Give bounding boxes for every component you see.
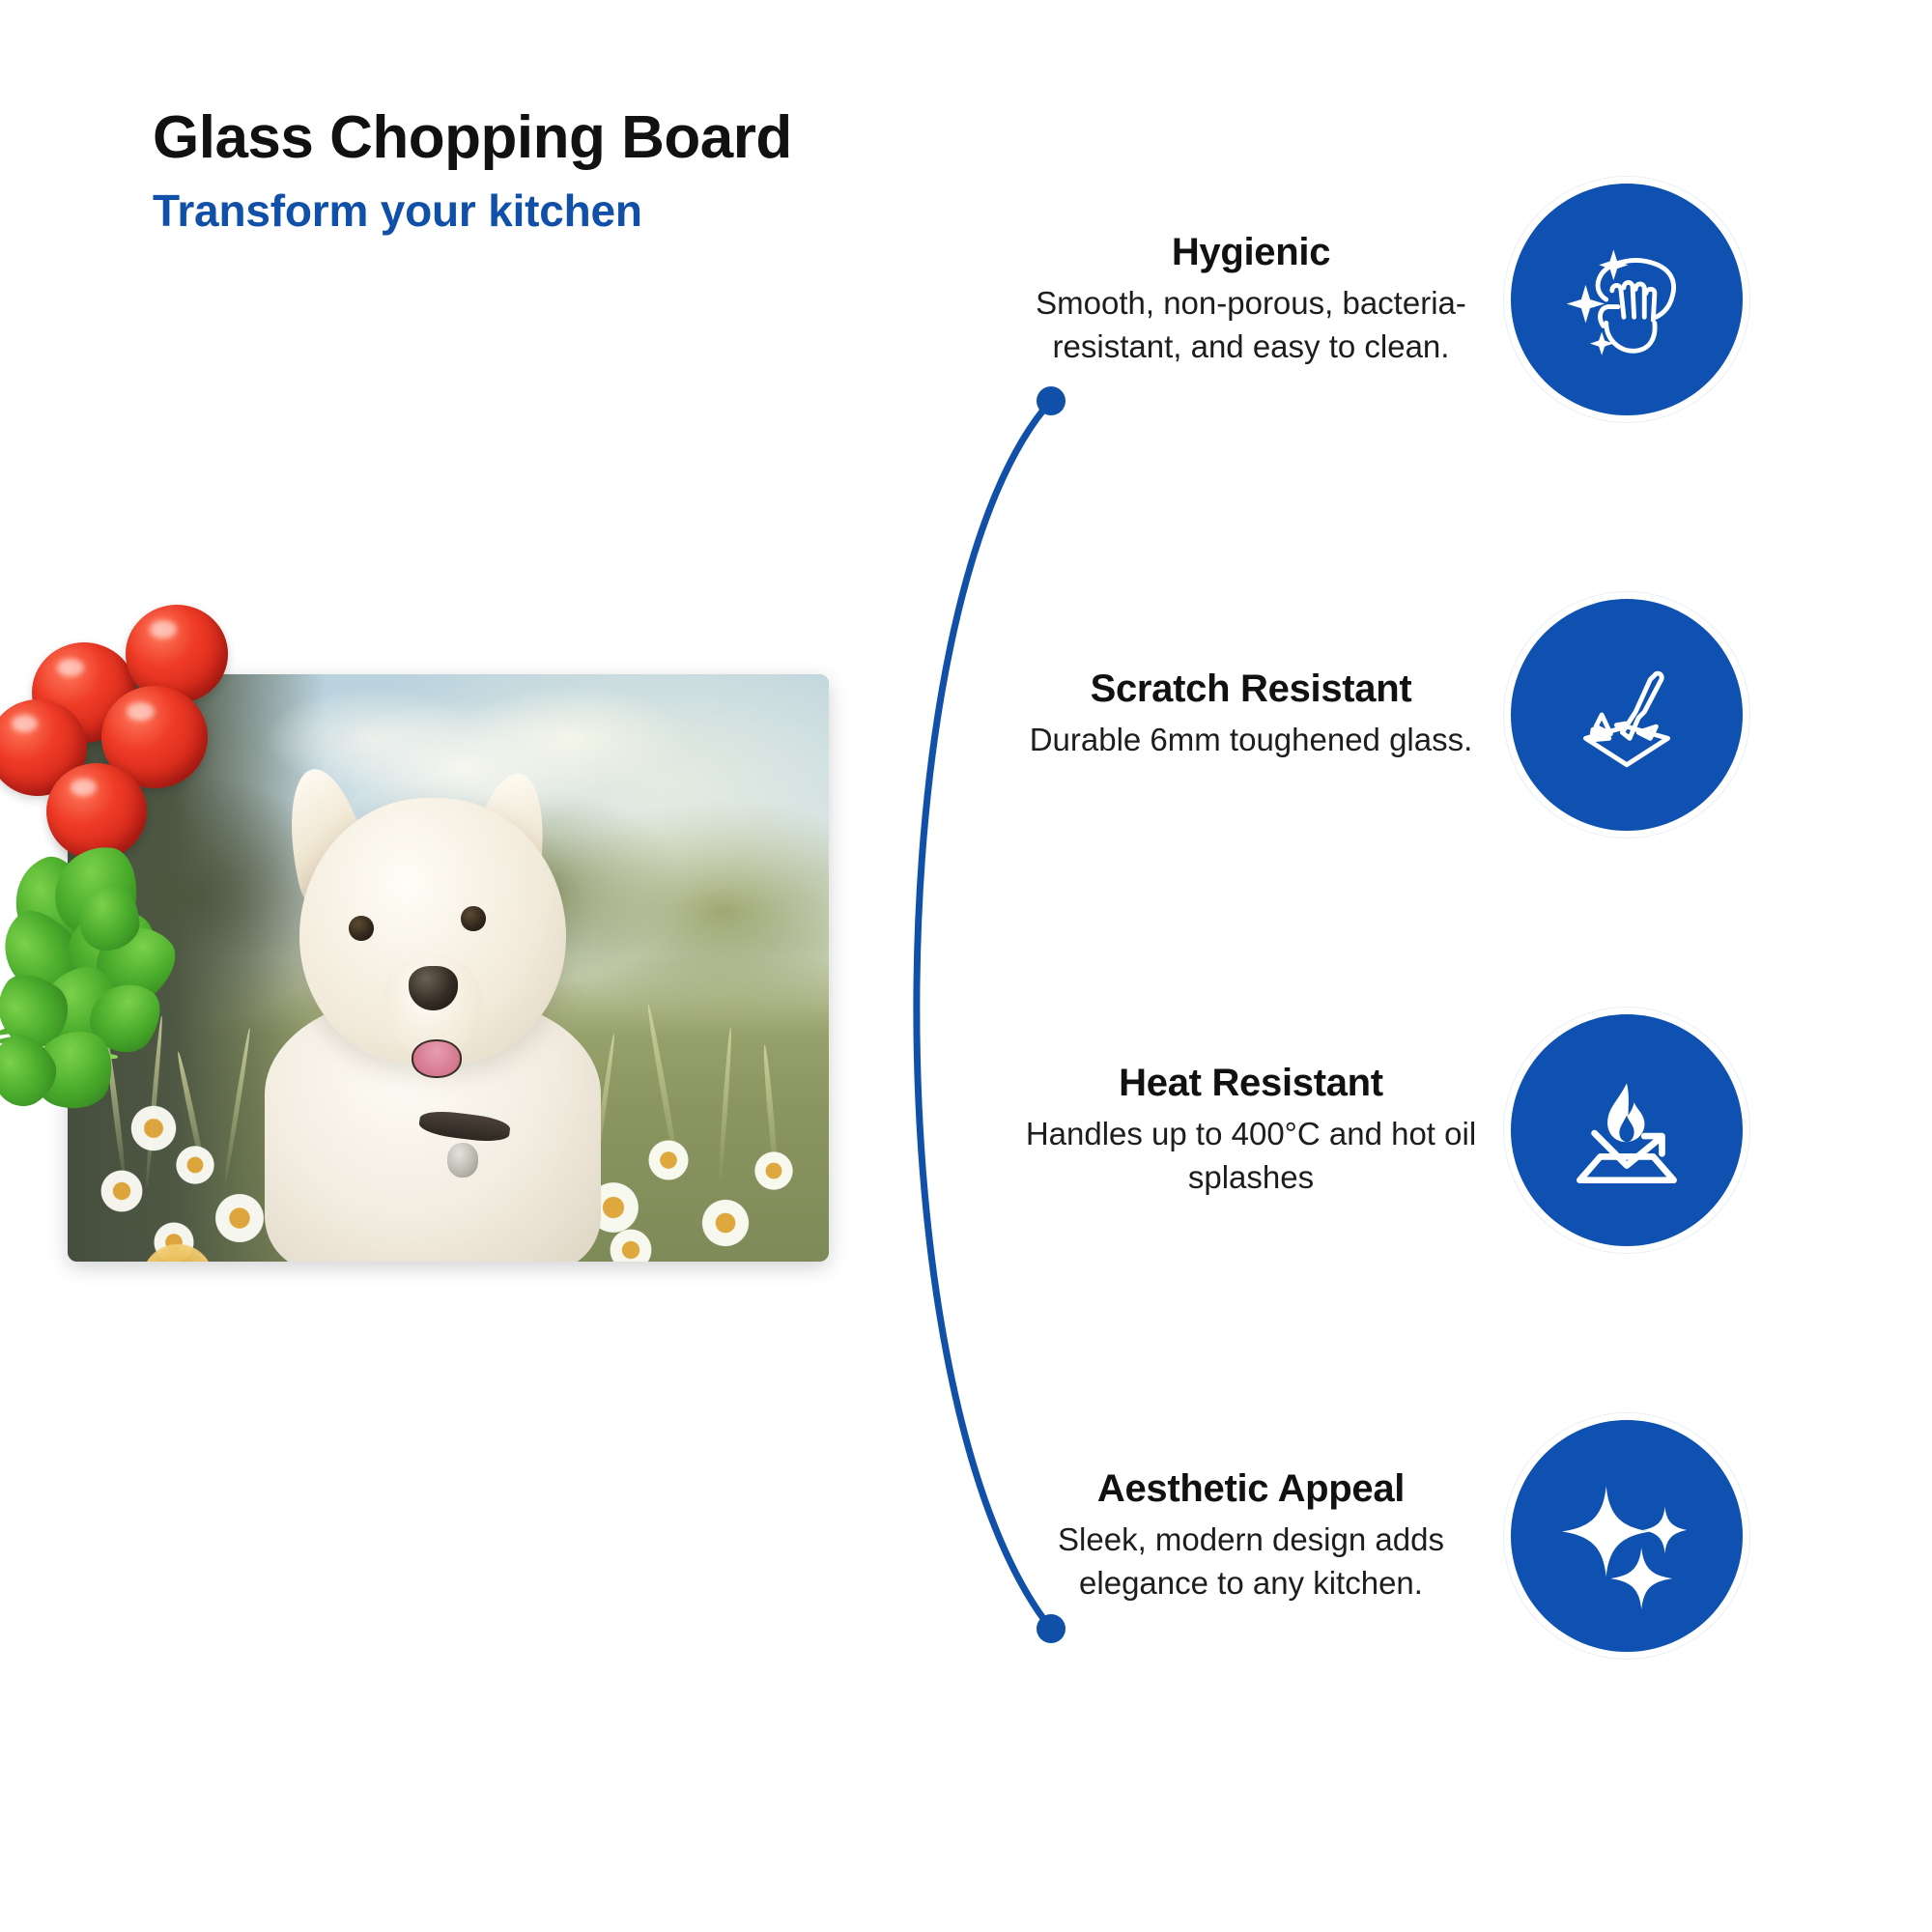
sparkles-icon	[1553, 1463, 1700, 1609]
feature-title: Scratch Resistant	[1024, 668, 1478, 711]
feature-description: Smooth, non-porous, bacteria-resistant, …	[1024, 282, 1478, 367]
feature-text-block: Heat Resistant Handles up to 400°C and h…	[1024, 1062, 1478, 1198]
feature-heat-resistant: Heat Resistant Handles up to 400°C and h…	[1024, 1014, 1845, 1246]
dog-eye-left	[349, 916, 373, 941]
knife-impact-surface-icon	[1553, 641, 1700, 788]
westie-dog-illustration	[258, 768, 608, 1262]
feature-description: Durable 6mm toughened glass.	[1024, 719, 1478, 761]
feature-text-block: Scratch Resistant Durable 6mm toughened …	[1024, 668, 1478, 761]
dog-eye-right	[461, 906, 485, 931]
feature-hygienic: Hygienic Smooth, non-porous, bacteria-re…	[1024, 184, 1845, 415]
dog-nose	[409, 966, 458, 1010]
feature-text-block: Hygienic Smooth, non-porous, bacteria-re…	[1024, 231, 1478, 367]
feature-description: Sleek, modern design adds elegance to an…	[1024, 1519, 1478, 1604]
feature-scratch-resistant: Scratch Resistant Durable 6mm toughened …	[1024, 599, 1845, 831]
feature-title: Aesthetic Appeal	[1024, 1467, 1478, 1511]
feature-icon-circle[interactable]	[1511, 599, 1743, 831]
cherry-tomato	[46, 763, 147, 860]
header: Glass Chopping Board Transform your kitc…	[153, 106, 1119, 236]
feature-icon-circle[interactable]	[1511, 1014, 1743, 1246]
feature-aesthetic-appeal: Aesthetic Appeal Sleek, modern design ad…	[1024, 1420, 1845, 1652]
feature-title: Hygienic	[1024, 231, 1478, 274]
feature-icon-circle[interactable]	[1511, 184, 1743, 415]
page-title: Glass Chopping Board	[153, 106, 1119, 169]
page-subtitle: Transform your kitchen	[153, 186, 1119, 236]
dog-tongue	[412, 1039, 461, 1078]
feature-text-block: Aesthetic Appeal Sleek, modern design ad…	[1024, 1467, 1478, 1604]
flame-deflect-surface-icon	[1553, 1057, 1700, 1204]
feature-description: Handles up to 400°C and hot oil splashes	[1024, 1113, 1478, 1198]
dog-collar-tag	[447, 1143, 479, 1178]
hand-wiping-sparkle-icon	[1553, 226, 1700, 373]
feature-title: Heat Resistant	[1024, 1062, 1478, 1105]
product-image-composition	[0, 599, 869, 1333]
feature-icon-circle[interactable]	[1511, 1420, 1743, 1652]
